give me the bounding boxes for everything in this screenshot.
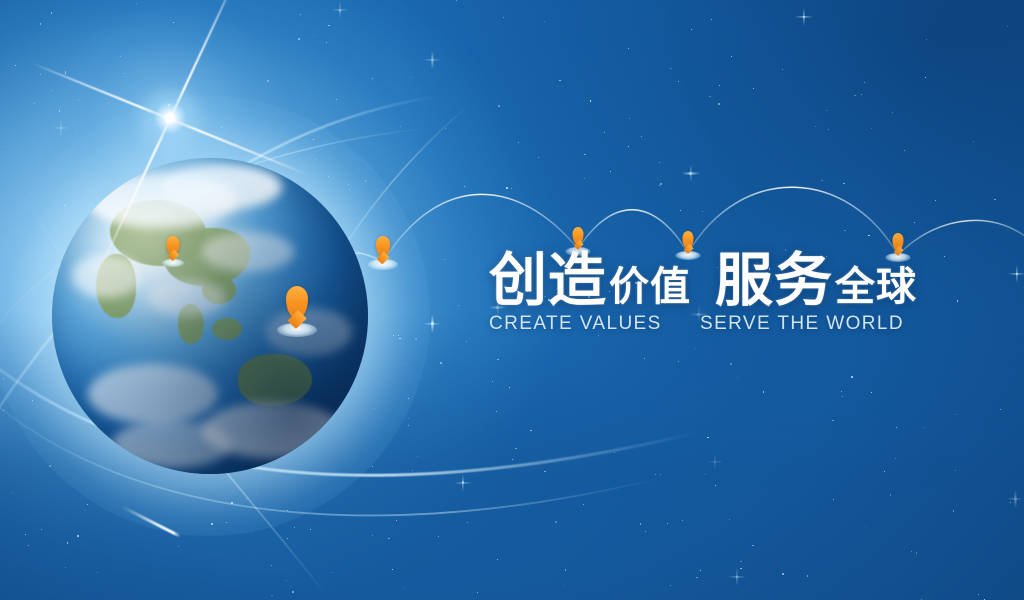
star (178, 546, 179, 547)
star (740, 568, 741, 569)
star (15, 65, 16, 66)
star (584, 154, 585, 155)
star (719, 85, 720, 86)
star (348, 184, 349, 185)
star (211, 523, 213, 525)
star (559, 80, 560, 81)
star (32, 400, 33, 401)
star (444, 259, 445, 260)
star (705, 474, 706, 475)
star (349, 189, 350, 190)
star (300, 14, 301, 15)
star (246, 498, 247, 499)
subtitle-serve-the-world: SERVE THE WORLD (700, 313, 904, 335)
star (440, 362, 441, 363)
star (895, 458, 897, 460)
star (994, 199, 995, 200)
star (832, 420, 834, 422)
subtitle-create-values: CREATE VALUES (489, 313, 662, 335)
star (292, 591, 294, 593)
star (702, 211, 703, 212)
star (398, 335, 399, 336)
star (782, 69, 783, 70)
star (372, 78, 373, 79)
star (715, 485, 717, 487)
star (67, 542, 68, 543)
star (226, 522, 227, 523)
star (691, 29, 692, 30)
star (458, 305, 459, 306)
star (515, 448, 516, 449)
headline-segment2-sub: 全球 (835, 267, 917, 307)
star (34, 203, 35, 204)
star (467, 522, 468, 523)
star (973, 141, 974, 142)
star (336, 99, 337, 100)
star (431, 59, 434, 62)
star (926, 39, 927, 40)
star (904, 150, 905, 151)
star (271, 565, 272, 566)
star (286, 580, 287, 581)
star (670, 585, 671, 586)
star (729, 519, 730, 520)
banner-canvas: 创造 价值 服务 全球 CREATE VALUES SERVE THE WORL… (0, 0, 1024, 600)
star (530, 430, 531, 431)
star (3, 378, 4, 379)
star (124, 73, 125, 74)
star (512, 459, 513, 460)
star (815, 126, 816, 127)
star (689, 172, 692, 175)
star (655, 474, 656, 475)
star (953, 510, 954, 511)
star (173, 22, 174, 23)
star (711, 19, 713, 21)
star (678, 361, 679, 362)
star (645, 531, 646, 532)
star (555, 521, 557, 523)
star (40, 74, 41, 75)
star (924, 427, 925, 428)
star (538, 157, 539, 158)
star (1010, 502, 1011, 503)
star (584, 178, 585, 179)
star (403, 587, 404, 588)
star (659, 185, 660, 186)
star (198, 134, 199, 135)
star (718, 103, 720, 105)
star (911, 551, 912, 552)
star (807, 575, 809, 577)
star (925, 77, 926, 78)
star (396, 520, 397, 521)
star (782, 573, 784, 575)
headline-segment1-main: 创造 (489, 252, 607, 310)
star (821, 180, 823, 182)
star (1014, 498, 1017, 501)
star (466, 341, 467, 342)
star (172, 116, 173, 117)
star (168, 104, 170, 106)
star (740, 561, 741, 562)
star (328, 176, 329, 177)
star (445, 128, 446, 129)
star (464, 186, 465, 187)
star (492, 381, 493, 382)
star (518, 142, 519, 143)
star (22, 326, 23, 327)
star (506, 187, 508, 189)
star (565, 569, 566, 570)
star (890, 494, 892, 496)
star (76, 129, 77, 130)
star (916, 552, 917, 553)
star (871, 392, 872, 393)
star (1007, 26, 1008, 27)
star (753, 88, 754, 89)
star (65, 567, 66, 568)
star (154, 125, 155, 126)
star (659, 162, 660, 163)
star (315, 159, 316, 160)
star (60, 127, 63, 130)
star (1000, 409, 1001, 410)
star (503, 17, 504, 18)
star (328, 25, 329, 26)
star (826, 110, 827, 111)
star (842, 396, 843, 397)
star (844, 230, 845, 231)
star (25, 534, 26, 535)
star (660, 183, 662, 185)
star (374, 408, 375, 409)
star (955, 414, 956, 415)
star (287, 510, 288, 511)
star (892, 112, 893, 113)
star (221, 127, 222, 128)
star (388, 538, 390, 540)
star (120, 56, 121, 57)
star (408, 418, 409, 419)
star (411, 77, 412, 78)
star (709, 96, 710, 97)
star (544, 471, 546, 473)
star (955, 470, 956, 471)
headline-segment1-sub: 价值 (609, 267, 691, 307)
star (498, 105, 500, 107)
star (978, 594, 979, 595)
star (914, 222, 915, 223)
star (730, 363, 732, 365)
star (707, 437, 708, 438)
star (851, 376, 853, 378)
star (77, 535, 79, 537)
star (314, 35, 315, 36)
star (59, 110, 60, 111)
star (497, 359, 498, 360)
star (629, 118, 630, 119)
star (871, 128, 872, 129)
star (456, 0, 457, 1)
star (6, 146, 7, 147)
star (287, 538, 288, 539)
star (326, 42, 327, 43)
star (417, 456, 418, 457)
star (700, 570, 701, 571)
star (803, 16, 806, 19)
star (408, 425, 409, 426)
star (78, 100, 79, 101)
star (49, 465, 50, 466)
star (64, 205, 65, 206)
star (496, 411, 497, 412)
star (628, 48, 629, 49)
star (861, 94, 862, 95)
star (511, 188, 512, 189)
star (736, 576, 739, 579)
star (392, 569, 393, 570)
star (267, 80, 269, 82)
star (34, 103, 35, 104)
star (843, 183, 844, 184)
star (404, 364, 405, 365)
star (339, 9, 342, 12)
star (896, 427, 897, 428)
star (610, 171, 611, 172)
star (935, 200, 936, 201)
star (644, 358, 645, 359)
star (563, 585, 564, 586)
star (310, 529, 311, 530)
star (28, 545, 29, 546)
star (544, 21, 545, 22)
star (415, 338, 417, 340)
star (833, 499, 834, 500)
star (51, 90, 52, 91)
star (438, 536, 439, 537)
star (298, 38, 300, 40)
star (604, 132, 605, 133)
star (696, 577, 698, 579)
star (865, 526, 866, 527)
star (40, 23, 42, 25)
star (412, 470, 413, 471)
star (864, 82, 865, 83)
star (393, 335, 394, 336)
star (41, 529, 42, 530)
star (1016, 273, 1019, 276)
star (313, 139, 314, 140)
star (365, 180, 367, 182)
star (670, 68, 672, 70)
star (408, 398, 409, 399)
star (583, 504, 584, 505)
star (682, 520, 683, 521)
star (87, 504, 88, 505)
star (957, 300, 959, 302)
star (678, 81, 679, 82)
headline: 创造 价值 服务 全球 (489, 252, 917, 310)
star (477, 592, 478, 593)
star (854, 95, 855, 96)
headline-segment2-main: 服务 (715, 252, 833, 310)
star (271, 595, 272, 596)
star (884, 471, 886, 473)
star (841, 391, 842, 392)
star (640, 523, 642, 525)
star (944, 256, 945, 257)
star (680, 210, 682, 212)
star (332, 572, 333, 573)
star (714, 461, 717, 464)
star (628, 146, 629, 147)
star (667, 523, 668, 524)
star (828, 129, 829, 130)
star (372, 535, 373, 536)
star (695, 348, 696, 349)
star (65, 73, 66, 74)
star (590, 100, 591, 101)
star (400, 126, 401, 127)
star (752, 545, 753, 546)
star (372, 466, 373, 467)
star (763, 391, 764, 392)
star (97, 572, 98, 573)
star (660, 474, 661, 475)
star (614, 452, 615, 453)
star (399, 338, 401, 340)
star (731, 56, 732, 57)
star (868, 235, 869, 236)
star (231, 502, 233, 504)
star (12, 492, 13, 493)
star (509, 387, 510, 388)
star (497, 559, 498, 560)
star (462, 481, 465, 484)
star (172, 123, 173, 124)
star (737, 377, 738, 378)
star (431, 322, 434, 325)
star (294, 527, 295, 528)
star (51, 12, 53, 14)
star (3, 410, 4, 411)
star (136, 3, 137, 4)
star (641, 136, 642, 137)
